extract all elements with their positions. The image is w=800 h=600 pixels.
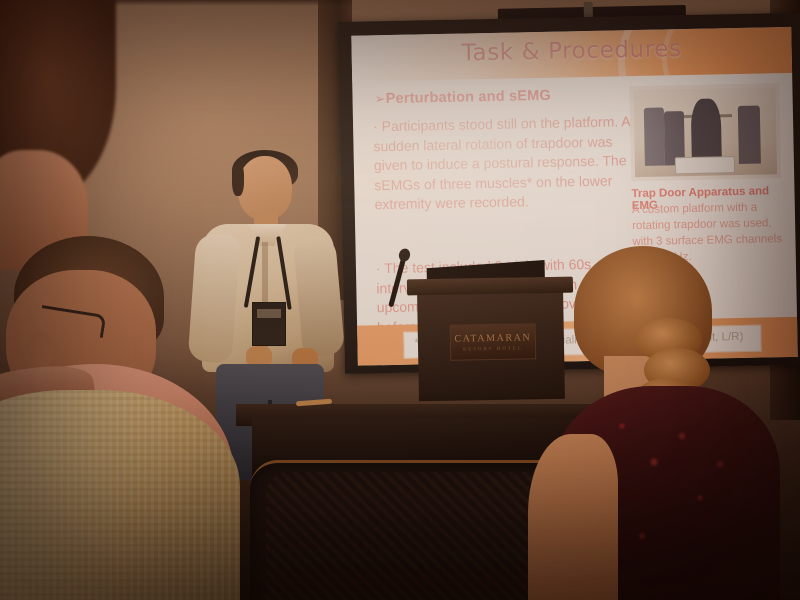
podium-venue-sign: CATAMARAN RESORT HOTEL [450,323,537,360]
venue-subtitle: RESORT HOTEL [463,345,523,351]
presenter-sideburn [232,162,244,196]
venue-name: CATAMARAN [454,332,531,344]
man-ear [26,332,54,370]
podium: CATAMARAN RESORT HOTEL [417,289,565,402]
presenter-head [238,156,292,220]
audience-person-front-light-shirt [0,390,240,600]
figure-platform [675,156,735,174]
slide-figure-photo [629,83,781,181]
front-shirt-texture [0,390,240,600]
bullet-arrow-icon: ➢ [374,91,385,106]
audience-woman-with-braid [556,246,800,600]
figure-photo-content [633,87,777,177]
figure-person-1 [644,107,665,165]
podium-ledge [407,277,573,296]
slide-section-heading: ➢Perturbation and sEMG [374,88,551,108]
woman-shoulder [528,434,618,600]
figure-person-3 [738,106,761,164]
chair-upholstery-texture [266,472,566,600]
presentation-photo-scene: Task & Procedures ➢Perturbation and sEMG… [0,0,800,600]
slide-paragraph-1: · Participants stood still on the platfo… [373,112,643,215]
slide-section-heading-text: Perturbation and sEMG [385,88,551,107]
